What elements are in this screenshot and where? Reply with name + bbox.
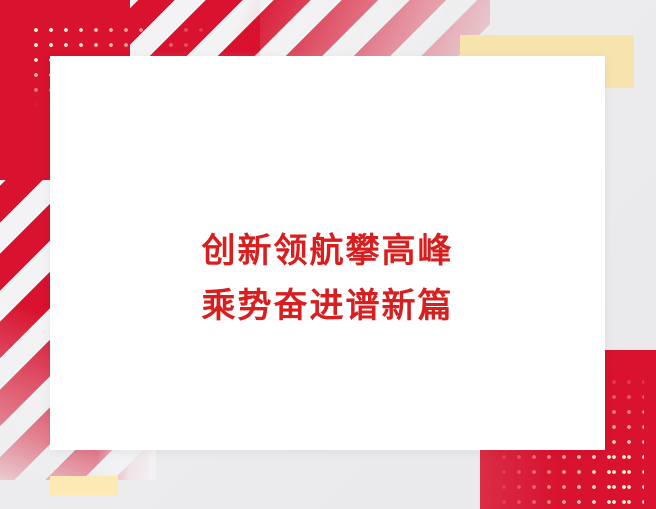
title-block: 创新领航攀高峰 乘势奋进谱新篇	[202, 224, 454, 334]
bottom-right-dot-grid-vertical	[612, 365, 644, 507]
title-line-1: 创新领航攀高峰	[202, 224, 454, 279]
content-card: 创新领航攀高峰 乘势奋进谱新篇	[50, 56, 605, 450]
bottom-left-gold-bar	[50, 476, 118, 495]
top-right-gold-vertical-bar	[605, 35, 634, 88]
title-line-2: 乘势奋进谱新篇	[202, 279, 454, 334]
poster-canvas: 创新领航攀高峰 乘势奋进谱新篇	[0, 0, 656, 509]
